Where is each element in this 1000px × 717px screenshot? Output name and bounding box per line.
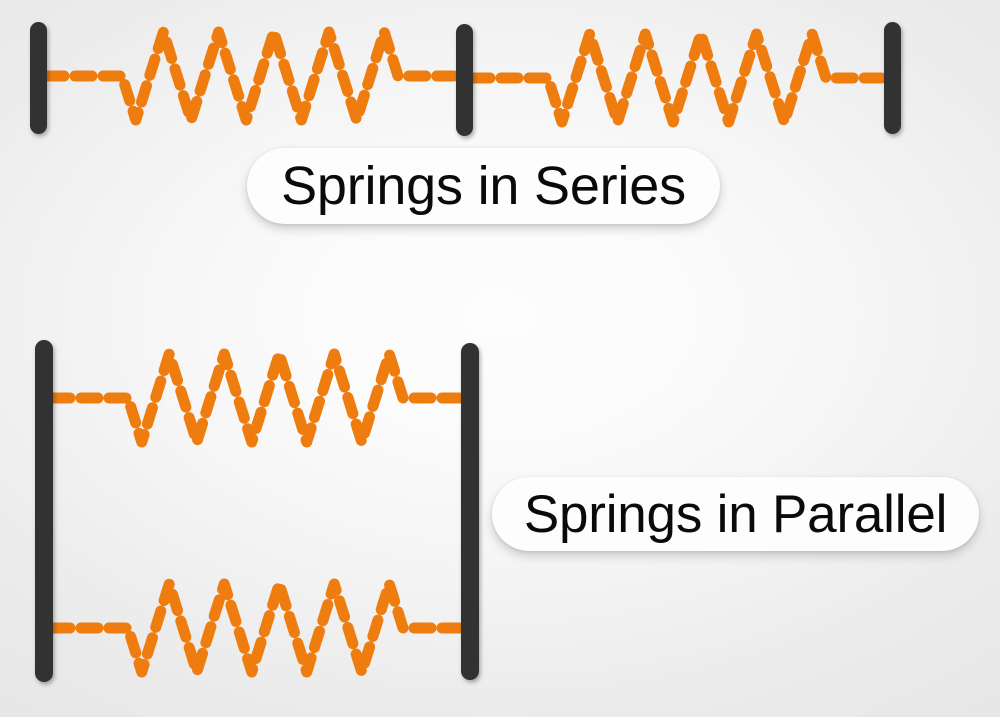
- label-springs-in-series-text: Springs in Series: [281, 155, 686, 217]
- springs-in-parallel: [35, 340, 479, 682]
- springs-in-series-wall-left: [30, 22, 47, 134]
- diagram-canvas: Springs in Series Springs in Parallel: [0, 0, 1000, 717]
- springs-in-series-wall-right: [884, 22, 901, 134]
- spring-parallel-bottom: [53, 584, 461, 672]
- label-springs-in-parallel: Springs in Parallel: [492, 477, 979, 551]
- spring-parallel-top: [53, 354, 461, 442]
- label-springs-in-series: Springs in Series: [247, 148, 720, 224]
- label-springs-in-parallel-text: Springs in Parallel: [524, 484, 947, 545]
- springs-in-series: [30, 22, 901, 136]
- spring-series-1: [47, 32, 456, 120]
- spring-series-2: [473, 34, 884, 122]
- springs-in-parallel-wall-right: [461, 343, 479, 680]
- springs-in-series-wall-middle: [456, 24, 473, 136]
- springs-diagram: [0, 0, 1000, 717]
- springs-in-parallel-wall-left: [35, 340, 53, 682]
